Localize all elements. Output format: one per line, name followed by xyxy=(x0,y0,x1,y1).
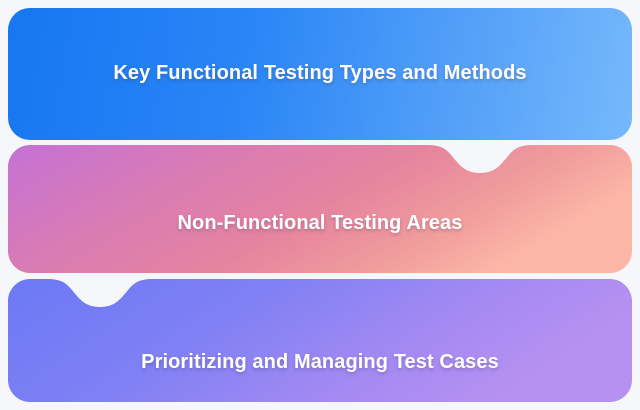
infographic-stage: Key Functional Testing Types and Methods… xyxy=(0,0,640,410)
band-3-shape xyxy=(8,279,632,402)
band-non-functional-testing[interactable]: Non-Functional Testing Areas xyxy=(8,145,632,273)
band-key-functional-testing[interactable]: Key Functional Testing Types and Methods xyxy=(8,8,632,140)
band-1-label: Key Functional Testing Types and Methods xyxy=(113,62,526,85)
band-prioritizing-test-cases[interactable]: Prioritizing and Managing Test Cases xyxy=(8,279,632,402)
band-2-shape xyxy=(8,145,632,273)
band-2-label: Non-Functional Testing Areas xyxy=(177,212,462,235)
band-3-label: Prioritizing and Managing Test Cases xyxy=(141,351,499,374)
